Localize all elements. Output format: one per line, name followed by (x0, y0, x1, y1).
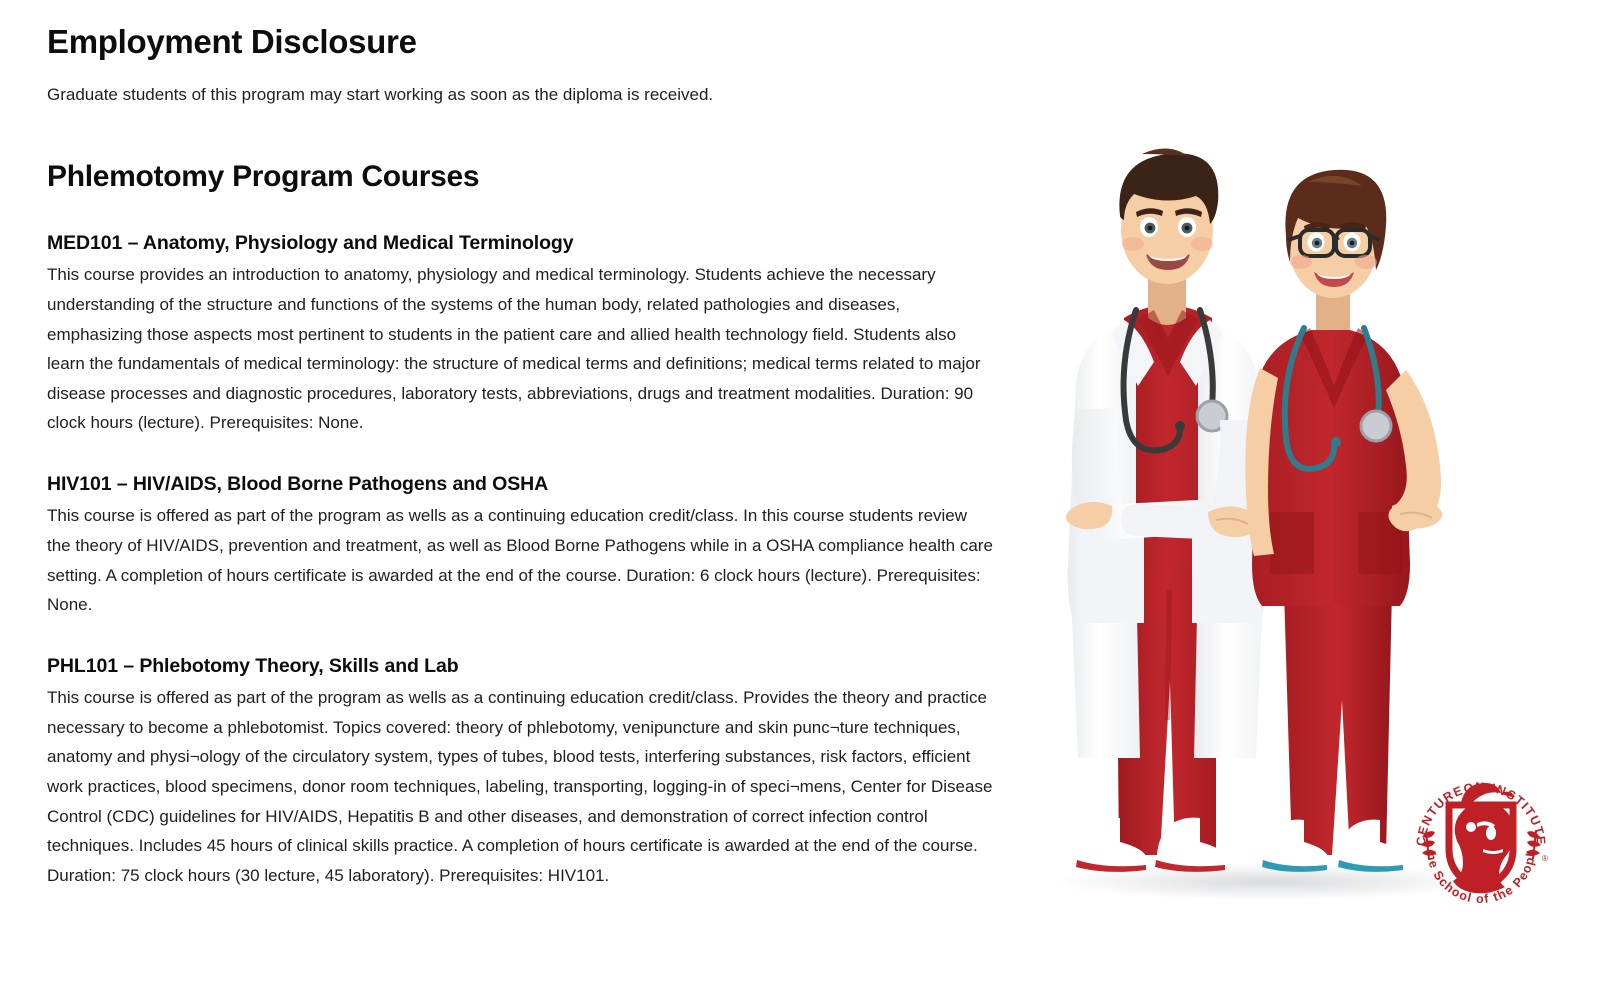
course-description: This course provides an introduction to … (47, 260, 995, 438)
course-block-phl101: PHL101 – Phlebotomy Theory, Skills and L… (47, 654, 1002, 891)
course-title: MED101 – Anatomy, Physiology and Medical… (47, 231, 1002, 255)
course-title: HIV101 – HIV/AIDS, Blood Borne Pathogens… (47, 472, 1002, 496)
scrub-pocket-left (1270, 512, 1314, 574)
coat-pocket-left (1080, 535, 1144, 623)
centureon-institute-seal: CENTUREON INSTITUTE The School of the Pe… (1405, 765, 1557, 910)
lead-paragraph: Graduate students of this program may st… (47, 82, 1002, 108)
page-title: Employment Disclosure (47, 22, 1002, 62)
employment-disclosure-page: Employment Disclosure Graduate students … (0, 0, 1600, 997)
course-description: This course is offered as part of the pr… (47, 683, 995, 890)
seal-registered-mark: ® (1542, 854, 1548, 863)
course-block-hiv101: HIV101 – HIV/AIDS, Blood Borne Pathogens… (47, 472, 1002, 620)
figure-male-doctor (1066, 148, 1267, 871)
course-block-med101: MED101 – Anatomy, Physiology and Medical… (47, 231, 1002, 438)
course-description: This course is offered as part of the pr… (47, 501, 995, 619)
coat-pocket-right (1192, 535, 1256, 623)
content-column: Employment Disclosure Graduate students … (47, 22, 1002, 890)
program-heading: Phlemotomy Program Courses (47, 159, 1002, 195)
course-title: PHL101 – Phlebotomy Theory, Skills and L… (47, 654, 1002, 678)
